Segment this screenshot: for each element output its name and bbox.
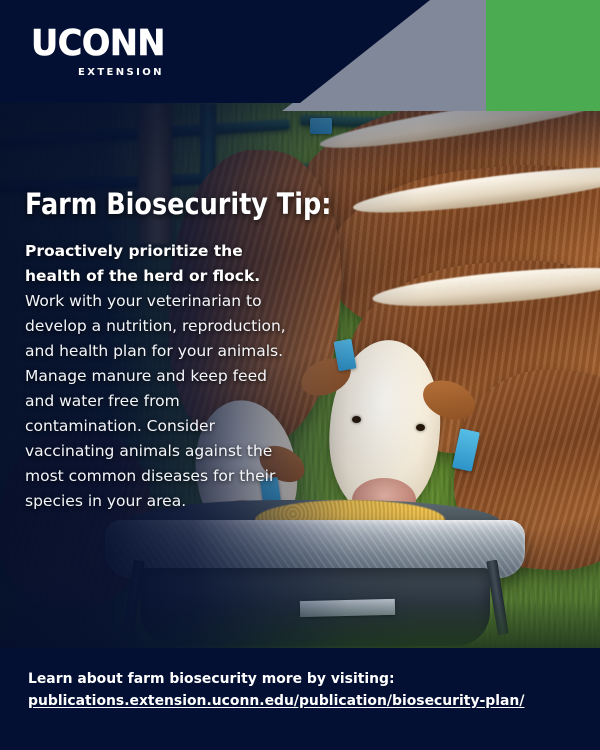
tip-body-lead: Proactively prioritize the health of the… — [25, 242, 260, 285]
page-title: Farm Biosecurity Tip: — [25, 188, 289, 220]
tip-content: Farm Biosecurity Tip: Proactively priori… — [25, 188, 325, 514]
tip-body-rest: Work with your veterinarian to develop a… — [25, 292, 286, 510]
footer-url-link[interactable]: publications.extension.uconn.edu/publica… — [28, 690, 524, 712]
header-bar: UCONN EXTENSION — [0, 0, 600, 112]
footer-cta-text: Learn about farm biosecurity more by vis… — [28, 668, 551, 690]
tip-body-text: Proactively prioritize the health of the… — [25, 239, 293, 514]
footer-bar: Learn about farm biosecurity more by vis… — [0, 648, 600, 750]
poster: UCONN EXTENSION Farm Biosecurity Tip: Pr… — [0, 0, 600, 750]
extension-subtext: EXTENSION — [78, 67, 175, 78]
uconn-wordmark: UCONN — [31, 26, 165, 62]
footer-content: Learn about farm biosecurity more by vis… — [28, 668, 573, 712]
uconn-extension-logo[interactable]: UCONN EXTENSION — [31, 26, 175, 78]
